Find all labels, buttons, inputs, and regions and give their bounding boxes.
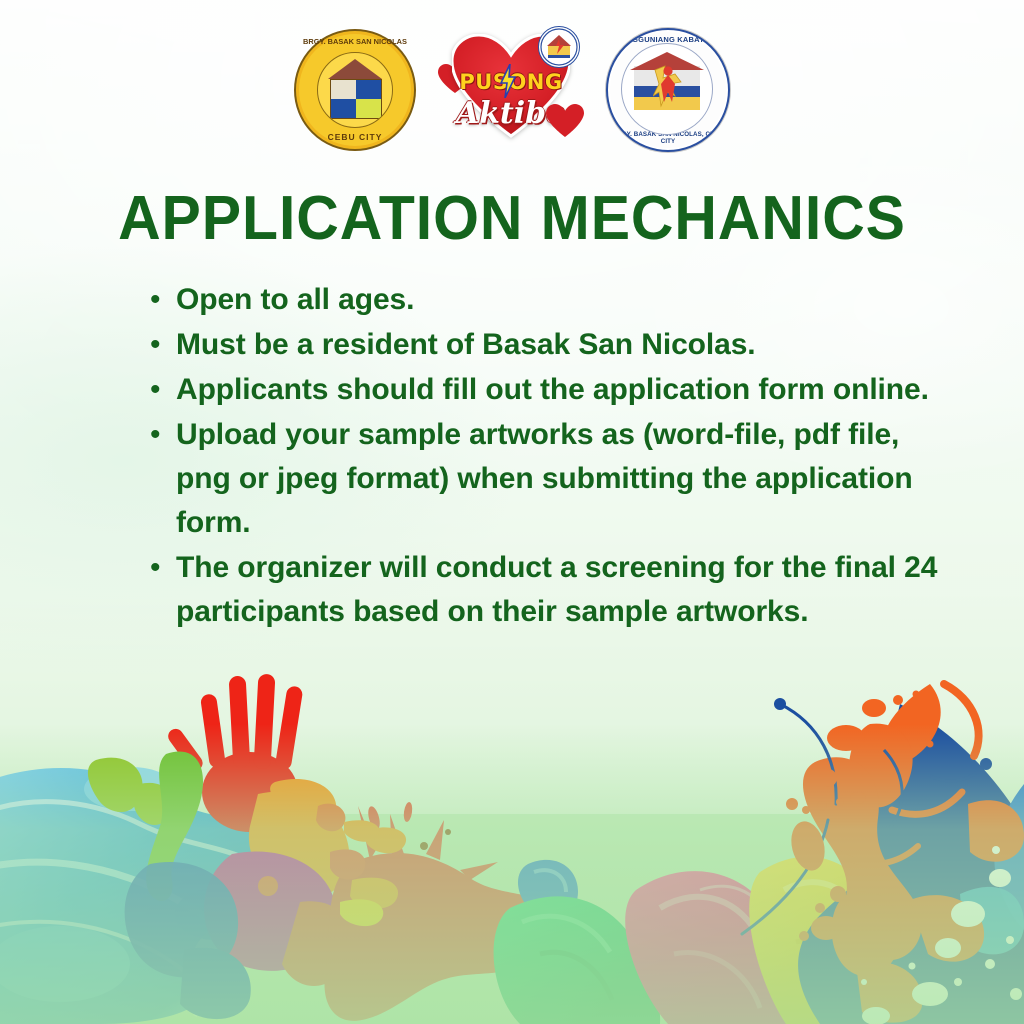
- list-item: • Upload your sample artworks as (word-f…: [150, 413, 950, 545]
- bullet-dot-icon: •: [150, 278, 176, 322]
- brgy-seal-top-text: BRGY. BASAK SAN NICOLAS: [294, 37, 416, 46]
- bullet-dot-icon: •: [150, 368, 176, 412]
- list-item-label: The organizer will conduct a screening f…: [176, 546, 950, 634]
- list-item: • Must be a resident of Basak San Nicola…: [150, 323, 950, 367]
- list-item: • The organizer will conduct a screening…: [150, 546, 950, 634]
- list-item-label: Upload your sample artworks as (word-fil…: [176, 413, 950, 545]
- mini-heart-right-icon: [546, 104, 584, 138]
- sk-figure-icon: [653, 62, 683, 114]
- logo-row: BRGY. BASAK SAN NICOLAS CEBU CITY: [0, 26, 1024, 154]
- lightning-bolt-icon: [500, 64, 516, 98]
- bullet-dot-icon: •: [150, 546, 176, 590]
- poster-canvas: BRGY. BASAK SAN NICOLAS CEBU CITY: [0, 0, 1024, 1024]
- brgy-basak-san-nicolas-seal-icon: BRGY. BASAK SAN NICOLAS CEBU CITY: [294, 29, 416, 151]
- brgy-seal-house-emblem: [317, 52, 393, 128]
- sangguniang-kabataan-seal-icon: SANGGUNIANG KABATAAN BRGY. BASAK SAN NIC…: [606, 28, 730, 152]
- mechanics-list: • Open to all ages. • Must be a resident…: [150, 278, 950, 635]
- bullet-dot-icon: •: [150, 413, 176, 457]
- brgy-seal-bottom-text: CEBU CITY: [294, 132, 416, 142]
- pusong-aktibo-logo-icon: PUSONG Aktibo: [436, 26, 586, 154]
- bullet-dot-icon: •: [150, 323, 176, 367]
- list-item: • Applicants should fill out the applica…: [150, 368, 950, 412]
- list-item-label: Must be a resident of Basak San Nicolas.: [176, 323, 950, 367]
- list-item-label: Open to all ages.: [176, 278, 950, 322]
- list-item-label: Applicants should fill out the applicati…: [176, 368, 950, 412]
- sk-badge-icon: [538, 26, 580, 68]
- page-title: APPLICATION MECHANICS: [26, 186, 999, 251]
- list-item: • Open to all ages.: [150, 278, 950, 322]
